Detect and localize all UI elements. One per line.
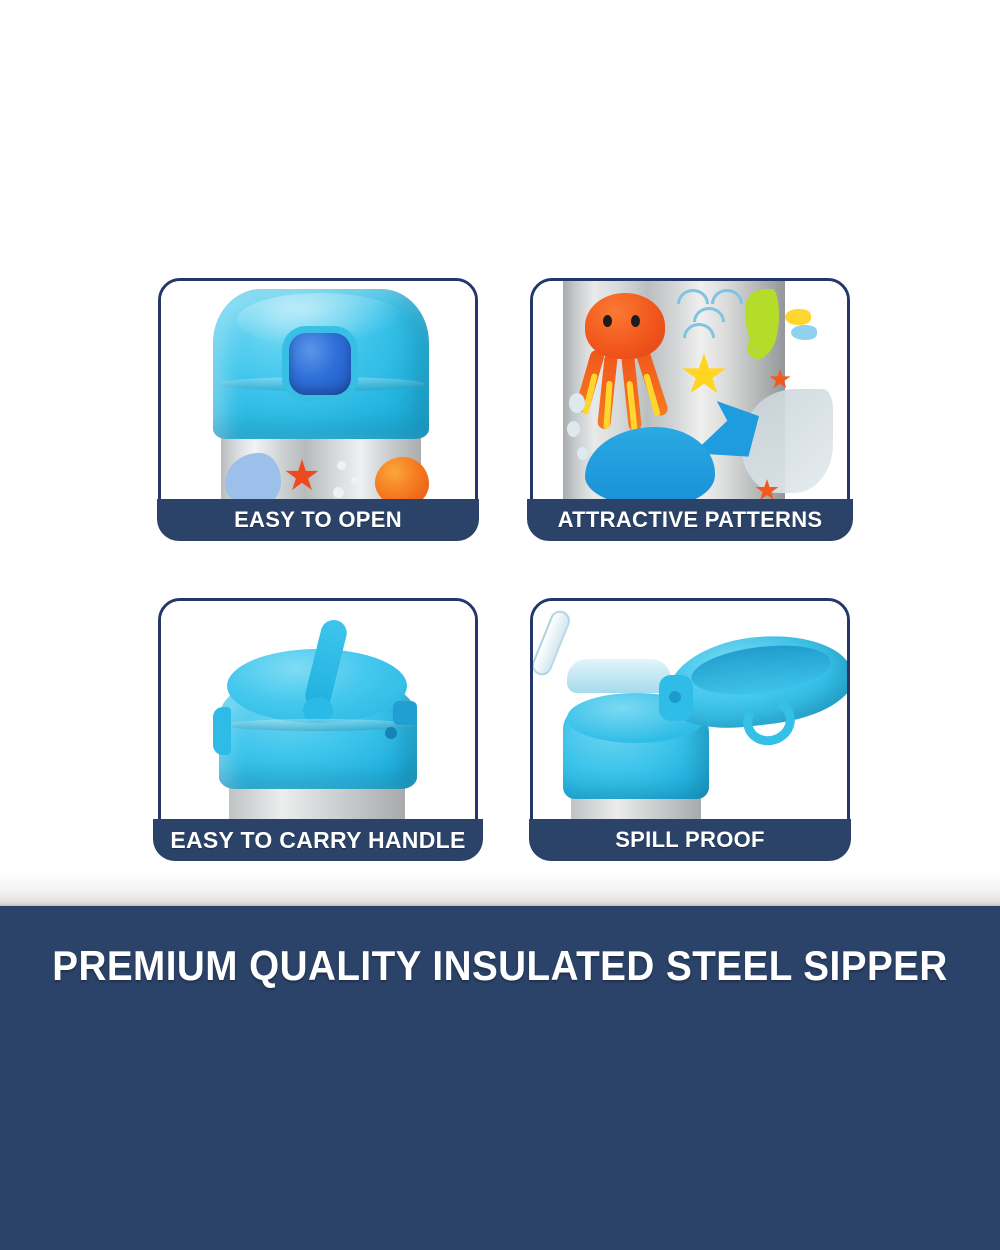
carry-handle-photo — [161, 601, 475, 827]
feature-label-attractive-patterns: ATTRACTIVE PATTERNS — [527, 499, 853, 541]
bottle-cap-photo — [161, 281, 475, 507]
spill-proof-photo — [533, 601, 847, 827]
straw-spout — [567, 659, 671, 693]
bottle-pattern-photo — [533, 281, 847, 507]
feature-label-easy-to-open: EASY TO OPEN — [157, 499, 479, 541]
bottom-banner: PREMIUM QUALITY INSULATED STEEL SIPPER — [0, 906, 1000, 1250]
bubble-icon — [333, 487, 344, 498]
silicone-straw — [533, 608, 573, 679]
feature-label-carry-handle: EASY TO CARRY HANDLE — [153, 819, 483, 861]
lid-hinge-hole — [669, 691, 681, 703]
bubble-icon — [337, 461, 346, 470]
fish-graphic — [785, 309, 811, 325]
feature-card-easy-to-open[interactable]: EASY TO OPEN — [158, 278, 478, 540]
banner-title: PREMIUM QUALITY INSULATED STEEL SIPPER — [40, 942, 960, 990]
seahorse-tail — [747, 337, 769, 359]
feature-grid: EASY TO OPEN — [0, 0, 1000, 906]
cap-side-latch — [213, 707, 231, 755]
octopus-eye — [631, 315, 640, 327]
octopus-graphic — [585, 293, 665, 359]
cap-release-button — [289, 333, 351, 395]
feature-label-spill-proof: SPILL PROOF — [529, 819, 851, 861]
feature-card-carry-handle[interactable]: EASY TO CARRY HANDLE — [158, 598, 478, 860]
bubble-icon — [569, 393, 585, 413]
feature-card-spill-proof[interactable]: SPILL PROOF — [530, 598, 850, 860]
bubble-icon — [351, 477, 358, 484]
feature-card-attractive-patterns[interactable]: ATTRACTIVE PATTERNS — [530, 278, 850, 540]
fish-graphic — [791, 325, 817, 340]
bubble-icon — [567, 421, 580, 437]
cap-seam — [223, 719, 413, 731]
bubble-icon — [577, 447, 588, 460]
banner-top-gradient-strip — [0, 872, 1000, 906]
octopus-eye — [603, 315, 612, 327]
cap-vent-hole — [385, 727, 397, 739]
cap-side-tab — [393, 701, 417, 725]
